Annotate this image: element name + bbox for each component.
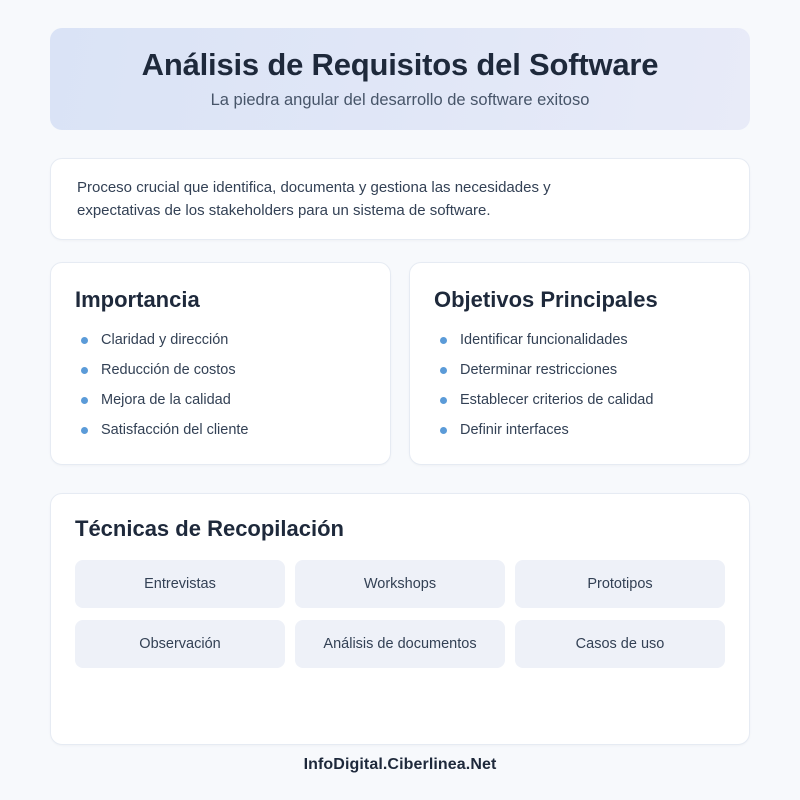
list-item: Definir interfaces (434, 415, 725, 445)
techniques-card: Técnicas de Recopilación Entrevistas Wor… (50, 493, 750, 745)
list-item-label: Reducción de costos (101, 362, 236, 378)
infographic-page: Análisis de Requisitos del Software La p… (0, 0, 800, 800)
technique-chip: Casos de uso (515, 620, 725, 668)
technique-chip: Análisis de documentos (295, 620, 505, 668)
list-item-label: Determinar restricciones (460, 362, 617, 378)
objectives-list: Identificar funcionalidades Determinar r… (434, 325, 725, 445)
bullet-dot-icon (440, 397, 447, 404)
importance-card: Importancia Claridad y dirección Reducci… (50, 262, 391, 465)
page-title: Análisis de Requisitos del Software (142, 48, 659, 82)
bullet-dot-icon (440, 337, 447, 344)
header-banner: Análisis de Requisitos del Software La p… (50, 28, 750, 130)
list-item: Mejora de la calidad (75, 385, 366, 415)
bullet-dot-icon (440, 427, 447, 434)
list-item-label: Mejora de la calidad (101, 392, 231, 408)
objectives-card: Objetivos Principales Identificar funcio… (409, 262, 750, 465)
list-item-label: Establecer criterios de calidad (460, 392, 653, 408)
list-item: Determinar restricciones (434, 355, 725, 385)
page-subtitle: La piedra angular del desarrollo de soft… (211, 91, 590, 110)
technique-chip: Prototipos (515, 560, 725, 608)
description-card: Proceso crucial que identifica, document… (50, 158, 750, 240)
description-text: Proceso crucial que identifica, document… (77, 176, 637, 223)
objectives-card-title: Objetivos Principales (434, 287, 725, 313)
list-item: Identificar funcionalidades (434, 325, 725, 355)
footer-brand: InfoDigital.Ciberlinea.Net (0, 756, 800, 774)
bullet-dot-icon (81, 397, 88, 404)
technique-chip: Observación (75, 620, 285, 668)
techniques-grid: Entrevistas Workshops Prototipos Observa… (75, 560, 725, 668)
list-item: Reducción de costos (75, 355, 366, 385)
list-item-label: Identificar funcionalidades (460, 332, 628, 348)
bullet-dot-icon (81, 427, 88, 434)
list-item: Establecer criterios de calidad (434, 385, 725, 415)
list-item: Satisfacción del cliente (75, 415, 366, 445)
bullet-dot-icon (81, 337, 88, 344)
importance-card-title: Importancia (75, 287, 366, 313)
list-item-label: Definir interfaces (460, 422, 569, 438)
list-item-label: Claridad y dirección (101, 332, 228, 348)
technique-chip: Workshops (295, 560, 505, 608)
techniques-card-title: Técnicas de Recopilación (75, 516, 725, 542)
importance-list: Claridad y dirección Reducción de costos… (75, 325, 366, 445)
bullet-dot-icon (440, 367, 447, 374)
list-item: Claridad y dirección (75, 325, 366, 355)
bullet-dot-icon (81, 367, 88, 374)
list-item-label: Satisfacción del cliente (101, 422, 249, 438)
technique-chip: Entrevistas (75, 560, 285, 608)
columns-row: Importancia Claridad y dirección Reducci… (50, 262, 750, 465)
